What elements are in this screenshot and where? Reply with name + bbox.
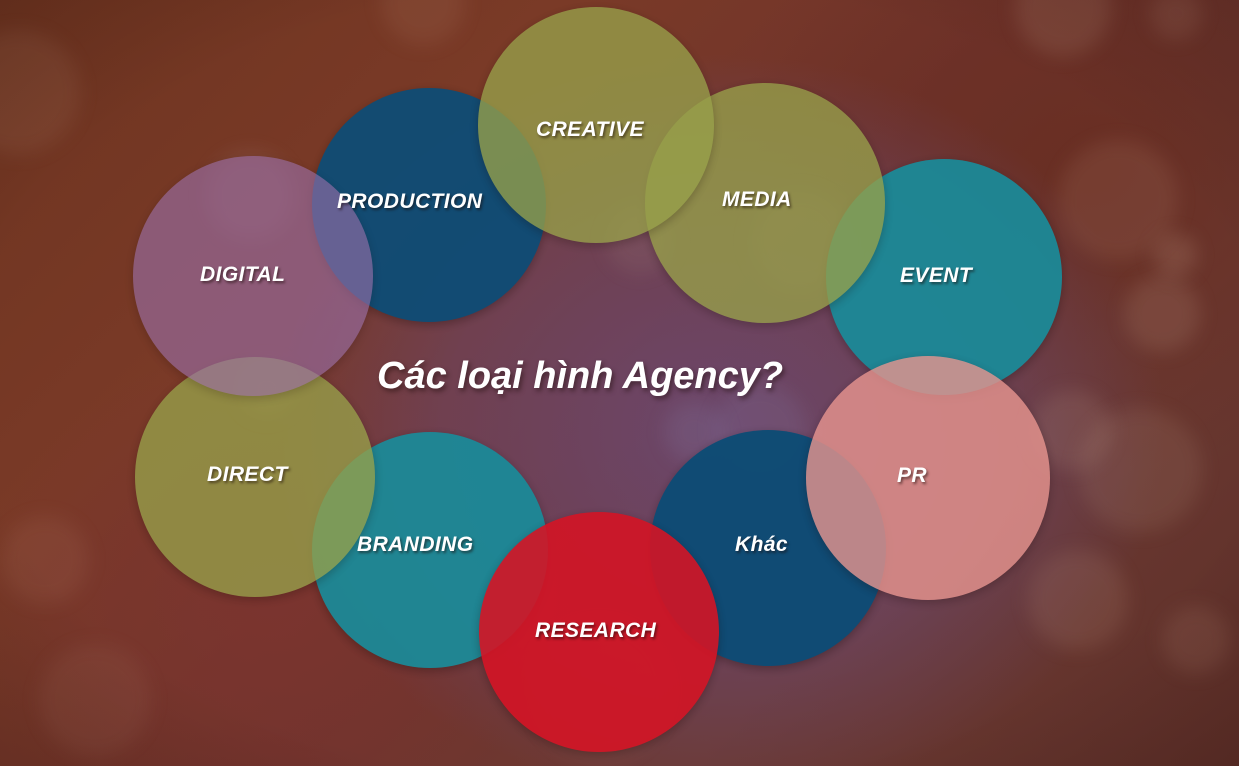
page-title: Các loại hình Agency? — [377, 355, 783, 398]
venn-label-production: PRODUCTION — [337, 190, 482, 214]
venn-label-digital: DIGITAL — [200, 263, 285, 287]
venn-circle-pr[interactable] — [806, 356, 1050, 600]
venn-label-pr: PR — [897, 464, 927, 488]
venn-label-khac: Khác — [735, 533, 788, 557]
venn-label-direct: DIRECT — [207, 463, 288, 487]
venn-label-research: RESEARCH — [535, 619, 656, 643]
slide-canvas: PRODUCTIONCREATIVEMEDIAEVENTPRKhácRESEAR… — [0, 0, 1239, 766]
venn-label-media: MEDIA — [722, 188, 792, 212]
venn-label-branding: BRANDING — [357, 533, 474, 557]
venn-label-event: EVENT — [900, 264, 972, 288]
venn-label-creative: CREATIVE — [536, 118, 644, 142]
